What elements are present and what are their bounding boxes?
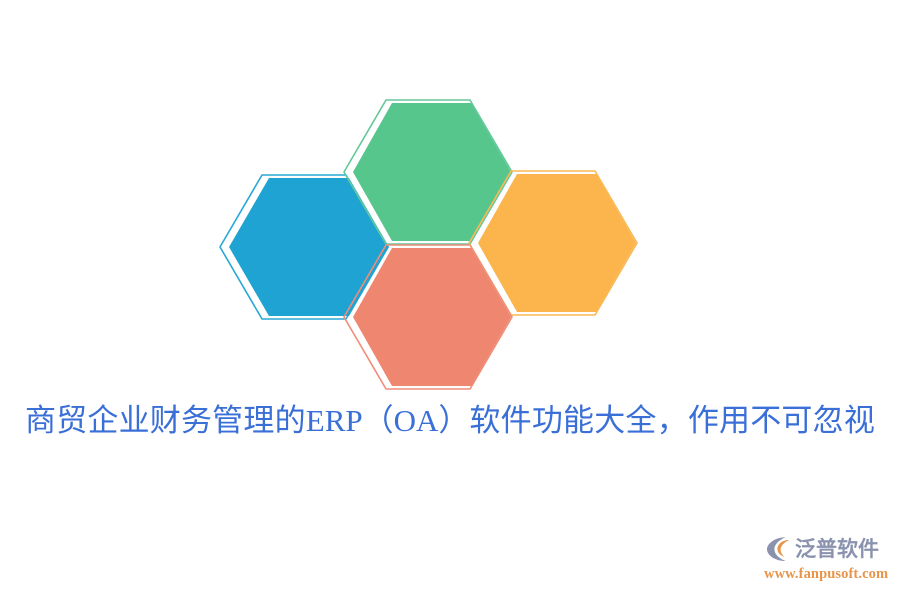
- hexagon-salmon-fill: [353, 248, 511, 386]
- hexagon-cluster-graphic: [0, 0, 900, 600]
- brand-wordmark: 泛普软件: [795, 534, 879, 564]
- brand-watermark: 泛普软件 www.fanpusoft.com: [764, 533, 888, 585]
- hexagon-green-fill: [353, 103, 511, 241]
- page-title-prefix: 商贸企业财务管理的: [25, 403, 306, 438]
- page-title: 商贸企业财务管理的ERP（OA）软件功能大全，作用不可忽视: [0, 398, 900, 444]
- brand-row: 泛普软件: [764, 533, 888, 565]
- page-canvas: 商贸企业财务管理的ERP（OA）软件功能大全，作用不可忽视 泛普软件 www.f…: [0, 0, 900, 600]
- page-title-suffix: 软件功能大全，作用不可忽视: [469, 403, 875, 438]
- hexagon-blue-fill: [229, 178, 389, 316]
- page-title-latin: ERP（OA）: [306, 403, 470, 438]
- hexagon-orange-fill: [478, 174, 636, 312]
- brand-url: www.fanpusoft.com: [764, 566, 888, 583]
- fanpu-logo-icon: [764, 534, 794, 564]
- hexagon-blue: [220, 175, 389, 319]
